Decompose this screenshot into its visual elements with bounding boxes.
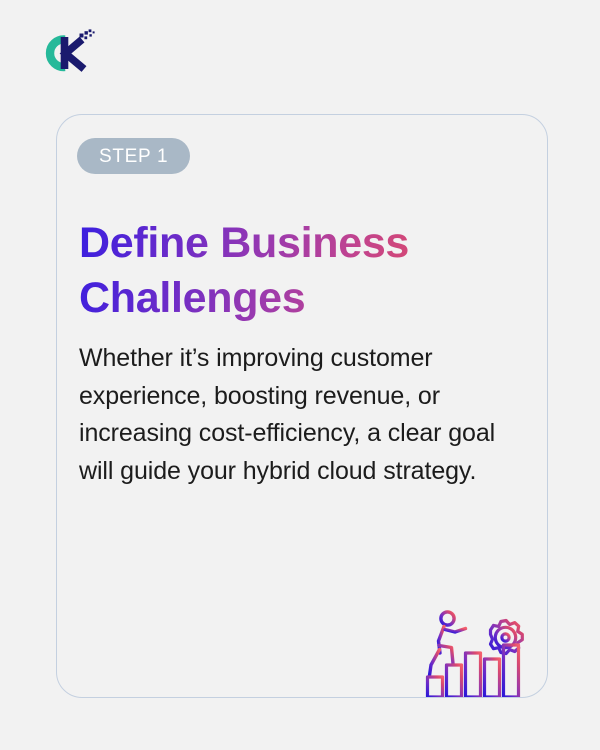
- ck-logo-icon: [32, 26, 96, 78]
- page-title: Define Business Challenges: [79, 216, 479, 326]
- brand-logo: [32, 26, 96, 78]
- status-badge-label: STEP 1: [99, 147, 168, 166]
- card-description: Whether it’s improving customer experien…: [79, 340, 523, 490]
- illustration: [421, 605, 533, 697]
- step-card: STEP 1 Define Business Challenges Whethe…: [56, 114, 548, 698]
- status-badge: STEP 1: [77, 138, 190, 174]
- growth-chart-person-gear-icon: [421, 605, 533, 697]
